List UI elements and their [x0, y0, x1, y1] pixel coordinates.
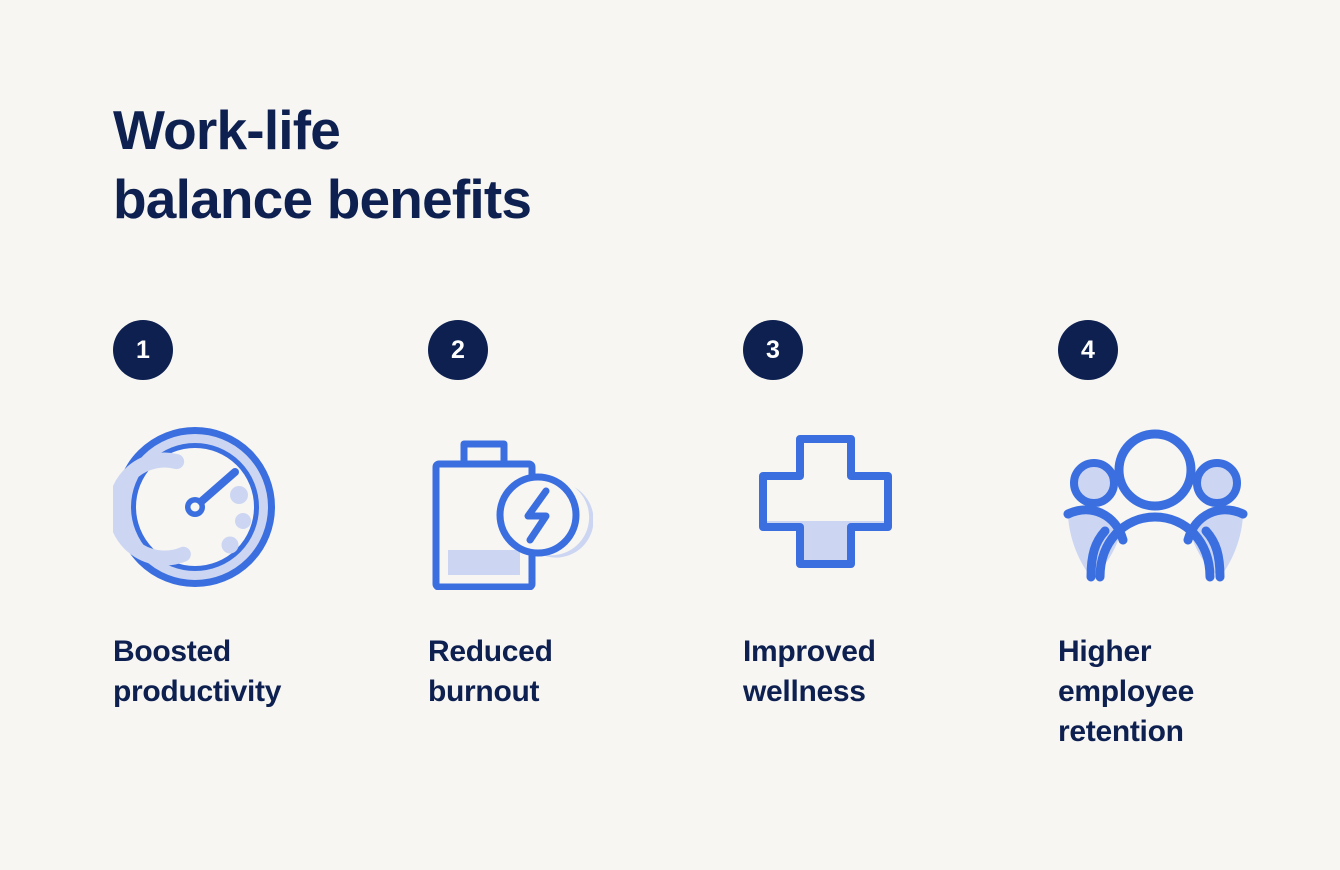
- benefit-item-1: 1: [113, 320, 413, 752]
- benefit-number-badge-3: 3: [743, 320, 803, 380]
- battery-charging-icon: [428, 425, 728, 590]
- page-title: Work-life balance benefits: [113, 96, 813, 235]
- benefit-label-1: Boosted productivity: [113, 632, 413, 712]
- benefit-label-3: Improved wellness: [743, 632, 1043, 712]
- medical-cross-icon: [743, 425, 1043, 590]
- benefits-list: 1: [113, 320, 1273, 752]
- people-group-icon: [1058, 425, 1340, 590]
- benefit-label-4: Higher employee retention: [1058, 632, 1340, 752]
- benefit-number-badge-4: 4: [1058, 320, 1118, 380]
- gauge-icon: [113, 425, 413, 590]
- benefit-number-badge-1: 1: [113, 320, 173, 380]
- benefit-item-3: 3 Improve: [743, 320, 1043, 752]
- benefit-item-4: 4: [1058, 320, 1340, 752]
- benefit-number-badge-2: 2: [428, 320, 488, 380]
- benefit-label-2: Reduced burnout: [428, 632, 728, 712]
- benefit-item-2: 2 Reduced burnout: [428, 320, 728, 752]
- infographic-canvas: Work-life balance benefits 1: [0, 0, 1340, 870]
